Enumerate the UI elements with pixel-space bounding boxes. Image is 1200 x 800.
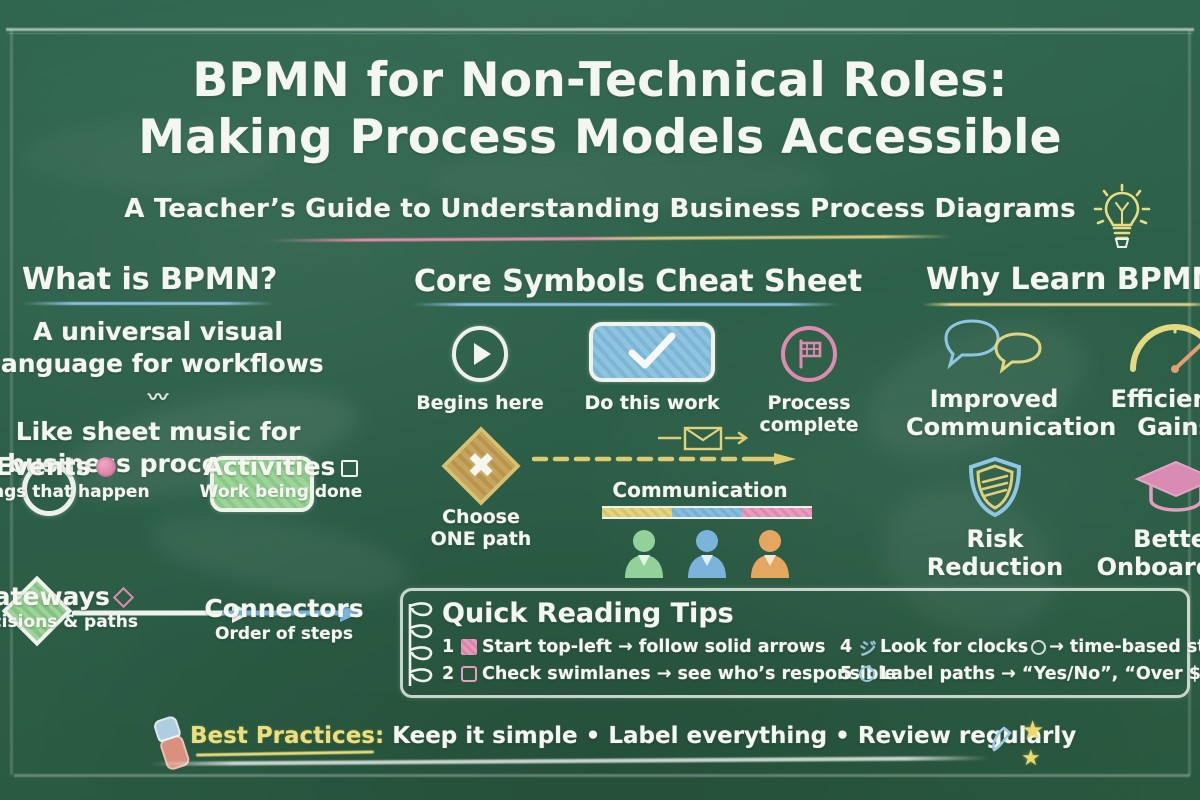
benefit-efficiency-gains: Efficiency Gains (1092, 316, 1200, 442)
page-subtitle: A Teacher’s Guide to Understanding Busin… (0, 194, 1200, 224)
tip-item: 1Start top-left → follow solid arrows (442, 634, 896, 661)
tip-number: 4 (840, 634, 854, 661)
quick-tips-left-column: 1Start top-left → follow solid arrows 2C… (442, 634, 896, 688)
symbol-caption: Choose ONE path (418, 506, 544, 550)
swimlanes-graphic (602, 506, 812, 519)
symbol-desc: Things that happen (0, 482, 154, 502)
best-practices-text: Keep it simple • Label everything • Revi… (384, 723, 1076, 749)
spiral-binding-icon (404, 596, 438, 692)
yellow-lane (602, 508, 672, 517)
benefit-line-2: Reduction (914, 554, 1076, 582)
page-title: BPMN for Non-Technical Roles: Making Pro… (0, 52, 1200, 167)
center-symbol-task: Do this work (572, 322, 732, 414)
section-underline-center (412, 303, 840, 306)
benefit-line-2: Communication (906, 414, 1082, 442)
header-divider (268, 235, 952, 242)
pink-diamond-icon (113, 587, 134, 608)
board-frame-top (6, 28, 1194, 31)
symbol-caption: Begins here (414, 392, 546, 414)
person-orange-icon (748, 528, 792, 578)
message-flow-arrow (532, 452, 804, 466)
tip-item: 5Label paths → “Yes/No”, “Over $500” (840, 661, 1200, 688)
benefit-line-1: Risk (914, 526, 1076, 554)
footer-rule (150, 756, 990, 766)
best-practices-label: Best Practices: (190, 723, 384, 749)
white-square-icon (341, 460, 358, 477)
pencil-icon (988, 724, 1018, 754)
symbol-desc: Decisions & paths (0, 612, 152, 632)
gauge-icon (1092, 316, 1200, 378)
left-symbol-events: Events Things that happen (0, 452, 154, 502)
benefit-line-1: Efficiency (1092, 386, 1200, 414)
left-symbol-activities: Activities Work being done (172, 452, 390, 502)
benefit-line-1: Improved (906, 386, 1082, 414)
left-symbol-connectors: Connectors Order of steps (176, 594, 392, 644)
people-group (622, 528, 792, 578)
tip-text: Start top-left → follow solid arrows (482, 637, 825, 657)
person-blue-icon (685, 528, 729, 578)
star-icon: ★ (1021, 746, 1041, 771)
symbol-name: Connectors (176, 594, 392, 623)
symbol-name: Events (0, 452, 154, 481)
shield-icon (914, 456, 1076, 518)
benefit-line-2: Gains (1092, 414, 1200, 442)
exclusive-gateway-x-icon: ✖ (441, 426, 520, 505)
benefit-improved-communication: Improved Communication (906, 316, 1082, 442)
clipboard-icon (461, 666, 477, 682)
section-heading-why-learn: Why Learn BPMN? (926, 262, 1200, 297)
graduation-cap-icon (1090, 456, 1200, 518)
star-icon: ★ (1021, 716, 1044, 746)
tip-text: Look for clocks (880, 637, 1028, 657)
section-underline-right (922, 303, 1200, 306)
symbol-name: Activities (172, 452, 390, 481)
tip-number: 1 (442, 634, 456, 661)
tip-text-after: → time-based steps (1049, 637, 1200, 657)
pink-lane (742, 508, 812, 517)
tip-item: 2Check swimlanes → see who’s responsible (442, 661, 896, 688)
best-practices-underline (196, 750, 374, 756)
board-frame-bottom (14, 774, 1190, 777)
section-underline-left (22, 302, 274, 305)
section-heading-what-is-bpmn: What is BPMN? (22, 262, 277, 297)
watch-icon (859, 666, 875, 682)
lead-line-2: for workflows (132, 349, 324, 378)
symbol-caption: Process complete (748, 392, 870, 436)
center-symbol-end: Process complete (748, 326, 870, 436)
tip-item: 4ジLook for clocks→ time-based steps (840, 634, 1200, 661)
left-symbol-gateways: Gateways Decisions & paths (0, 582, 152, 632)
wave-icon: 〰 (148, 385, 168, 409)
end-event-flag-icon (781, 326, 837, 382)
benefit-risk-reduction: Risk Reduction (914, 456, 1076, 582)
title-line-2: Making Process Models Accessible (138, 110, 1062, 165)
tip-number: 2 (442, 661, 456, 688)
book-icon (461, 639, 477, 655)
pink-dot-icon (96, 457, 116, 477)
speech-bubbles-icon (906, 316, 1082, 378)
communication-label: Communication (600, 478, 800, 502)
tip-number: 5 (840, 661, 854, 688)
benefit-line-2: Onboarding (1090, 554, 1200, 582)
start-event-play-icon (452, 326, 508, 382)
center-symbol-gateway: ✖ Choose ONE path (418, 438, 544, 550)
lightbulb-icon (1092, 181, 1152, 255)
symbol-desc: Order of steps (176, 624, 392, 644)
center-symbol-start: Begins here (414, 326, 546, 414)
quick-tips-title: Quick Reading Tips (442, 598, 734, 629)
symbol-desc: Work being done (172, 482, 390, 502)
clock-icon (1031, 640, 1046, 655)
tip-text: Check swimlanes → see who’s responsible (482, 664, 896, 684)
tip-text: Label paths → “Yes/No”, “Over $500” (880, 664, 1200, 684)
person-green-icon (622, 528, 666, 578)
best-practices-footer: Best Practices: Keep it simple • Label e… (190, 723, 990, 749)
title-line-1: BPMN for Non-Technical Roles: (192, 53, 1007, 108)
benefit-line-1: Better (1090, 526, 1200, 554)
section-heading-core-symbols: Core Symbols Cheat Sheet (414, 264, 862, 299)
symbol-name: Gateways (0, 582, 152, 611)
blue-lane (672, 508, 742, 517)
envelope-icon (658, 424, 766, 452)
zzz-icon: ジ (859, 637, 875, 653)
chalkboard-surface: BPMN for Non-Technical Roles: Making Pro… (0, 0, 1200, 800)
symbol-caption: Do this work (572, 392, 732, 414)
benefit-better-onboarding: Better Onboarding (1090, 456, 1200, 582)
task-checkmark-icon (589, 322, 715, 382)
quick-tips-right-column: 4ジLook for clocks→ time-based steps 5Lab… (840, 634, 1200, 688)
